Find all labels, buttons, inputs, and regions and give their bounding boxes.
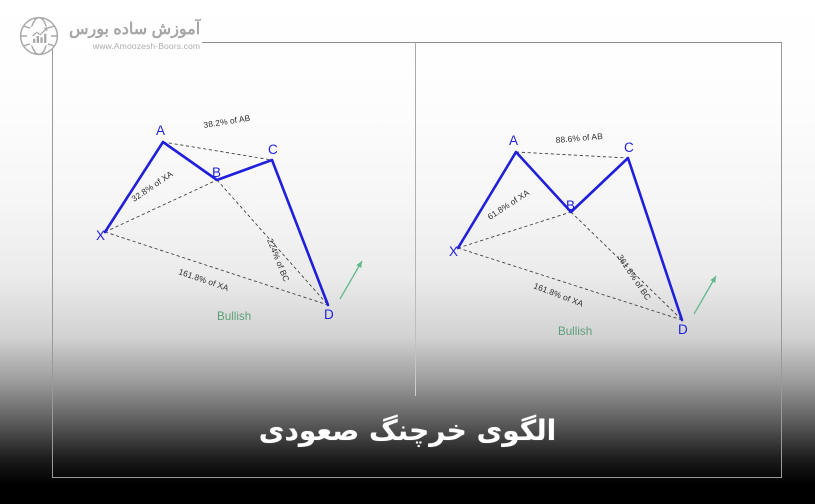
point-label-D: D — [678, 322, 688, 337]
point-label-B: B — [212, 165, 221, 180]
chart-panel-left: 38.2% of AB32.8% of XA224% of BC161.8% o… — [52, 42, 415, 396]
ratio-line-XD — [458, 248, 682, 320]
chart-panel-right: 88.6% of AB61.8% of XA361.8% of BC161.8%… — [416, 42, 782, 396]
ratio-label-XB: 32.8% of XA — [130, 169, 175, 204]
point-label-X: X — [96, 228, 105, 243]
page-title: الگوی خرچنگ صعودی — [0, 414, 815, 447]
crab-pattern-diagram-left: 38.2% of AB32.8% of XA224% of BC161.8% o… — [52, 42, 415, 396]
point-label-A: A — [509, 133, 518, 148]
trend-label-left-crab: Bullish — [217, 310, 251, 323]
brand-name-fa: آموزش ساده بورس — [69, 21, 200, 39]
ratio-line-XB — [458, 212, 571, 248]
trend-label-right-crab: Bullish — [558, 325, 592, 338]
point-label-D: D — [324, 307, 334, 322]
ratio-line-XD — [105, 232, 328, 305]
ratio-label-AC: 88.6% of AB — [555, 131, 603, 145]
ratio-label-BD: 361.8% of BC — [615, 253, 653, 302]
point-label-A: A — [156, 123, 165, 138]
point-label-C: C — [624, 140, 634, 155]
up-right-arrow-icon — [694, 276, 716, 314]
up-right-arrow-icon — [340, 261, 362, 299]
ratio-label-XD: 161.8% of XA — [532, 281, 585, 309]
slide-canvas: آموزش ساده بورس www.Amoozesh-Boors.com 3… — [0, 0, 815, 504]
ratio-label-AC: 38.2% of AB — [203, 113, 251, 130]
point-label-B: B — [566, 198, 575, 213]
point-label-C: C — [268, 142, 278, 157]
ratio-line-AC — [516, 152, 628, 158]
ratio-line-AC — [163, 142, 272, 160]
point-label-X: X — [449, 244, 458, 259]
crab-pattern-diagram-right: 88.6% of AB61.8% of XA361.8% of BC161.8%… — [416, 42, 782, 396]
